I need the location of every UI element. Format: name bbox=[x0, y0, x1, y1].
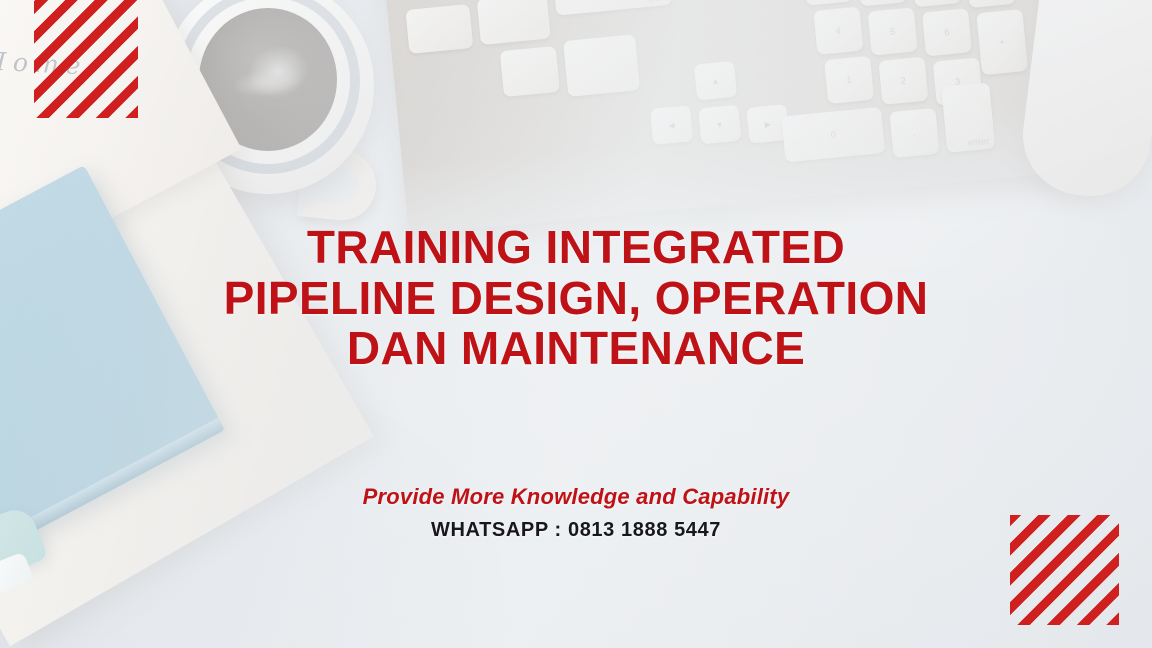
poster-canvas: shift ▲ ◀ ▼ ▶ 7 8 9 - 4 5 6 + 1 2 3 0 . … bbox=[0, 0, 1152, 648]
poster-content: TRAINING INTEGRATED PIPELINE DESIGN, OPE… bbox=[0, 0, 1152, 648]
page-title: TRAINING INTEGRATED PIPELINE DESIGN, OPE… bbox=[224, 222, 929, 374]
title-line-1: TRAINING INTEGRATED bbox=[224, 222, 929, 273]
title-line-3: DAN MAINTENANCE bbox=[224, 323, 929, 374]
poster-footer: Provide More Knowledge and Capability WH… bbox=[363, 484, 790, 542]
whatsapp-contact: WHATSAPP : 0813 1888 5447 bbox=[363, 519, 790, 542]
tagline: Provide More Knowledge and Capability bbox=[363, 484, 790, 510]
title-line-2: PIPELINE DESIGN, OPERATION bbox=[224, 273, 929, 324]
